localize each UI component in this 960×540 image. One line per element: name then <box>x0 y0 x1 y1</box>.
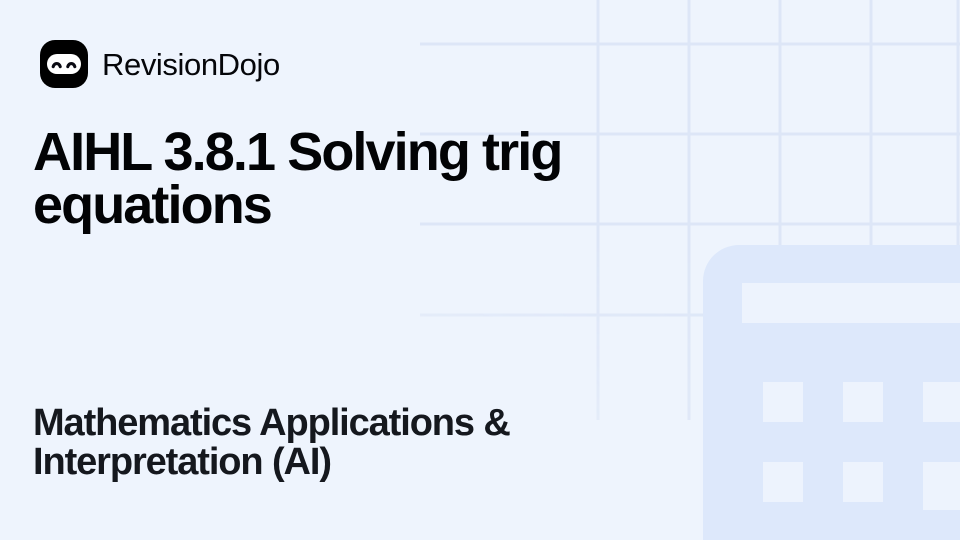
calculator-key <box>843 382 883 422</box>
calculator-body <box>703 245 960 540</box>
calculator-key <box>763 382 803 422</box>
calculator-key <box>923 382 960 422</box>
lesson-cover-card: RevisionDojo AIHL 3.8.1 Solving trig equ… <box>0 0 960 540</box>
calculator-screen <box>742 283 960 323</box>
subject-name: Mathematics Applications & Interpretatio… <box>33 404 693 482</box>
lesson-title: AIHL 3.8.1 Solving trig equations <box>33 126 613 233</box>
calculator-key <box>843 462 883 502</box>
brand-name: RevisionDojo <box>102 49 280 80</box>
calculator-key <box>923 462 960 510</box>
brand-lockup: RevisionDojo <box>40 40 280 88</box>
calculator-key <box>763 462 803 502</box>
ninja-mask-icon <box>40 40 88 88</box>
calculator-illustration <box>703 245 960 540</box>
